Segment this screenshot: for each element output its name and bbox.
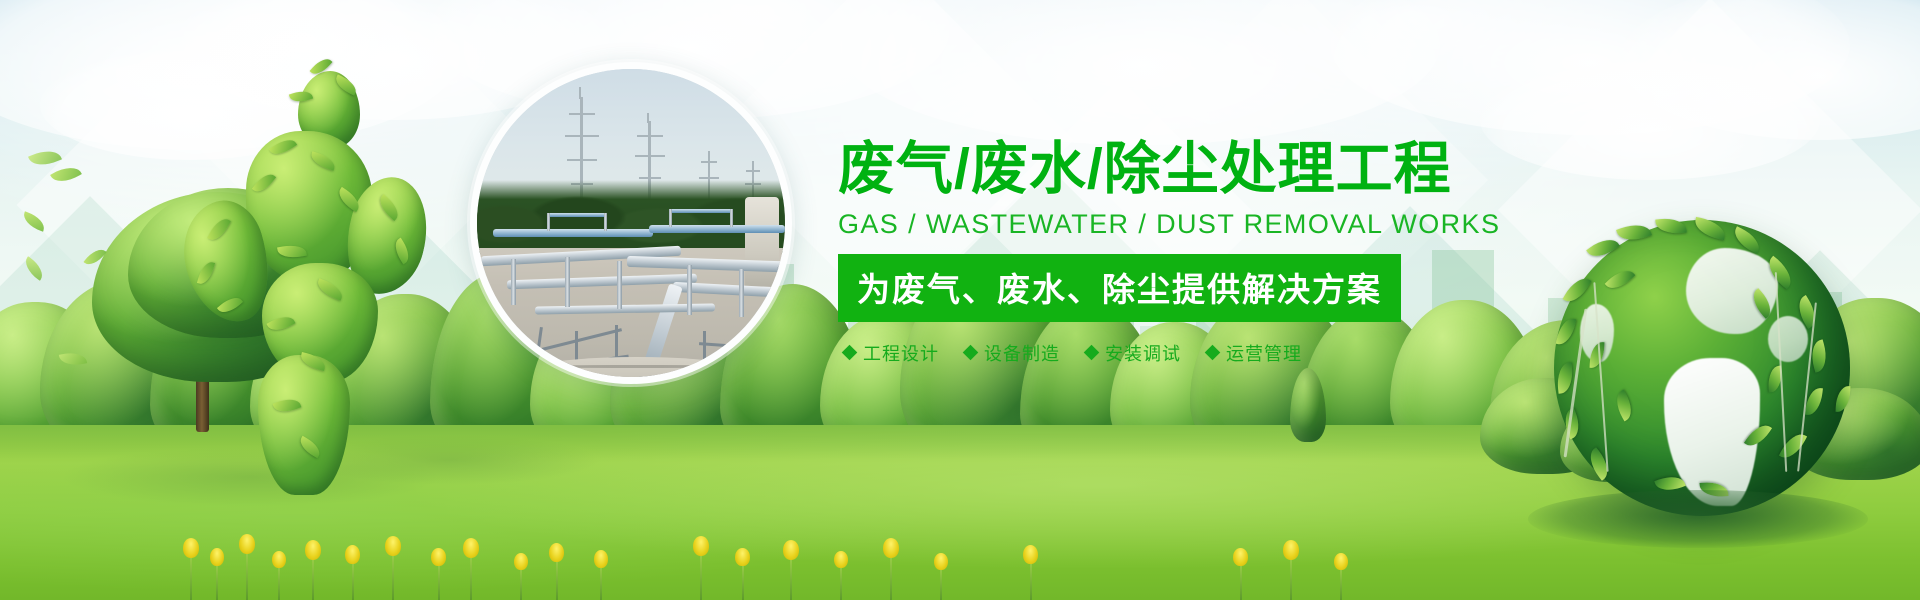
cloud-shape [1480, 60, 1820, 180]
flower-icon [735, 548, 750, 566]
diamond-bullet-icon [1205, 345, 1221, 361]
photo-treeline [470, 180, 792, 254]
photo-pipe-post [547, 213, 550, 231]
diamond-bullet-icon [842, 345, 858, 361]
continent-fragment [1768, 316, 1808, 362]
leaf-man-leg [258, 355, 350, 495]
running-leaf-man-figure [150, 55, 450, 485]
photo-blue-pipe [547, 213, 607, 217]
leafy-globe-figure [1548, 212, 1858, 542]
flower-icon [305, 540, 321, 560]
wastewater-plant-photo-inset [470, 62, 792, 384]
page-title: 废气/废水/除尘处理工程 [838, 140, 1498, 200]
flower-icon [345, 545, 360, 564]
slogan-text: 为废气、废水、除尘提供解决方案 [857, 271, 1382, 308]
service-bullet-item[interactable]: 设备制造 [965, 340, 1060, 366]
flower-icon [883, 538, 899, 558]
flower-icon [431, 548, 446, 566]
flower-icon [549, 543, 564, 562]
service-bullet-label: 工程设计 [863, 340, 939, 366]
flower-icon [385, 536, 401, 556]
photo-tank [745, 197, 779, 293]
photo-blue-pipe [669, 209, 733, 213]
flower-icon [463, 538, 479, 558]
flower-icon [1023, 545, 1038, 564]
photo-support-post [687, 265, 692, 315]
photo-support-post [739, 269, 744, 317]
flower-icon [594, 550, 608, 568]
flower-icon [1283, 540, 1299, 560]
flower-icon [783, 540, 799, 560]
flower-icon [1334, 553, 1348, 570]
service-bullet-item[interactable]: 运营管理 [1207, 340, 1302, 366]
photo-basin-line [517, 365, 757, 368]
service-bullet-item[interactable]: 安装调试 [1086, 340, 1181, 366]
flower-icon [1233, 548, 1248, 566]
service-bullet-list: 工程设计 设备制造 安装调试 运营管理 [844, 340, 1498, 366]
service-bullet-item[interactable]: 工程设计 [844, 340, 939, 366]
photo-blue-pipe [493, 229, 653, 237]
flower-icon [834, 551, 848, 568]
flower-icon [514, 553, 528, 570]
service-bullet-label: 运营管理 [1226, 340, 1302, 366]
headline-text-block: 废气/废水/除尘处理工程 GAS / WASTEWATER / DUST REM… [838, 140, 1498, 366]
photo-support-post [511, 259, 516, 305]
flower-icon [210, 548, 224, 566]
photo-support-post [565, 257, 570, 307]
photo-pipe-post [730, 209, 733, 227]
flower-icon [693, 536, 709, 556]
slogan-banner: 为废气、废水、除尘提供解决方案 [838, 254, 1401, 322]
photo-support-post [617, 261, 622, 309]
globe-ground-shadow [1528, 490, 1868, 548]
photo-pipe-post [669, 209, 672, 227]
page-subtitle-english: GAS / WASTEWATER / DUST REMOVAL WORKS [838, 209, 1498, 240]
flower-icon [183, 538, 199, 558]
photo-pipe-post [604, 213, 607, 231]
service-bullet-label: 安装调试 [1105, 340, 1181, 366]
service-bullet-label: 设备制造 [984, 340, 1060, 366]
flower-icon [934, 553, 948, 570]
eco-engineering-banner: 废气/废水/除尘处理工程 GAS / WASTEWATER / DUST REM… [0, 0, 1920, 600]
continent-north-america [1686, 248, 1778, 334]
photo-support-post [777, 267, 782, 313]
flower-icon [239, 534, 255, 554]
diamond-bullet-icon [963, 345, 979, 361]
diamond-bullet-icon [1084, 345, 1100, 361]
flower-icon [272, 551, 286, 568]
